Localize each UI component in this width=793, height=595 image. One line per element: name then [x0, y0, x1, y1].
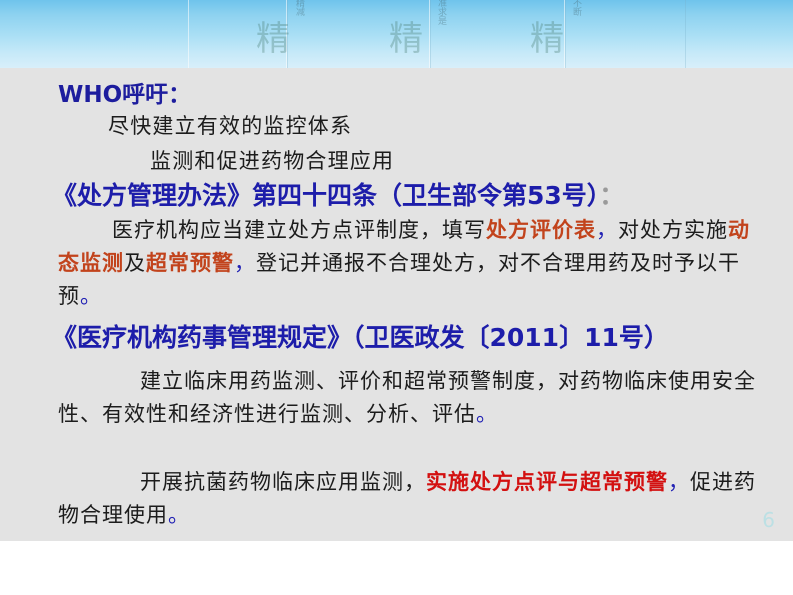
regulation-2-paragraph-1: 建立临床用药监测、评价和超常预警制度，对药物临床使用安全性、有效性和经济性进行监… [58, 365, 768, 431]
who-call-line-1: 尽快建立有效的监控体系 [108, 110, 352, 140]
who-call-line-2: 监测和促进药物合理应用 [150, 145, 394, 175]
slide-canvas: 精 精 精 精减 准求是 不断 WHO呼吁： 尽快建立有效的监控体系 监测和促进… [0, 0, 793, 595]
reg1-emphasis-prescription-eval: 处方评价 [486, 218, 574, 242]
reg2-p2-period: 。 [168, 503, 190, 527]
reg2-p2-text-a: 开展抗菌药物临床应用监测， [140, 470, 426, 494]
watermark-character: 精 [389, 22, 423, 56]
watermark-character: 精 [530, 22, 564, 56]
reg1-text-c: 及 [124, 251, 146, 275]
regulation-2-title: 《医疗机构药事管理规定》（卫医政发〔2011〕11号） [52, 318, 669, 354]
reg2-p1-period: 。 [476, 402, 498, 426]
reg2-emphasis-review-and-alert: 实施处方点评与超常预警 [426, 470, 668, 494]
watermark-small-text: 不断 [571, 0, 580, 16]
decorative-header-banner: 精 精 精 精减 准求是 不断 [0, 0, 793, 68]
watermark-character: 精 [256, 22, 290, 56]
slide-bottom-margin [0, 541, 793, 595]
reg1-emphasis-form: 表 [574, 218, 596, 242]
watermark-panel [564, 0, 686, 68]
regulation-1-title-text: 《处方管理办法》第四十四条（卫生部令第53号） [52, 181, 599, 210]
who-heading: WHO呼吁： [58, 75, 191, 109]
page-number: 6 [762, 508, 775, 532]
regulation-2-paragraph-2: 开展抗菌药物临床应用监测，实施处方点评与超常预警，促进药物合理使用。 [58, 466, 768, 532]
watermark-small-text: 准求是 [436, 0, 445, 25]
reg1-emphasis-abnormal-alert: 超常预警 [146, 251, 234, 275]
reg2-p2-comma: ， [668, 470, 690, 494]
regulation-1-body: 医疗机构应当建立处方点评制度，填写处方评价表，对处方实施动态监测及超常预警，登记… [58, 214, 768, 313]
regulation-1-title: 《处方管理办法》第四十四条（卫生部令第53号）： [52, 176, 624, 212]
reg1-comma-1: ， [596, 218, 618, 242]
reg1-text-a: 医疗机构应当建立处方点评制度，填写 [112, 218, 486, 242]
reg1-comma-2: ， [234, 251, 256, 275]
regulation-1-title-colon: ： [599, 181, 624, 210]
reg1-text-b: 对处方实施 [618, 218, 728, 242]
reg1-period: 。 [80, 284, 102, 308]
reg2-p1-text: 建立临床用药监测、评价和超常预警制度，对药物临床使用安全性、有效性和经济性进行监… [58, 369, 756, 426]
watermark-small-text: 精减 [294, 0, 303, 16]
